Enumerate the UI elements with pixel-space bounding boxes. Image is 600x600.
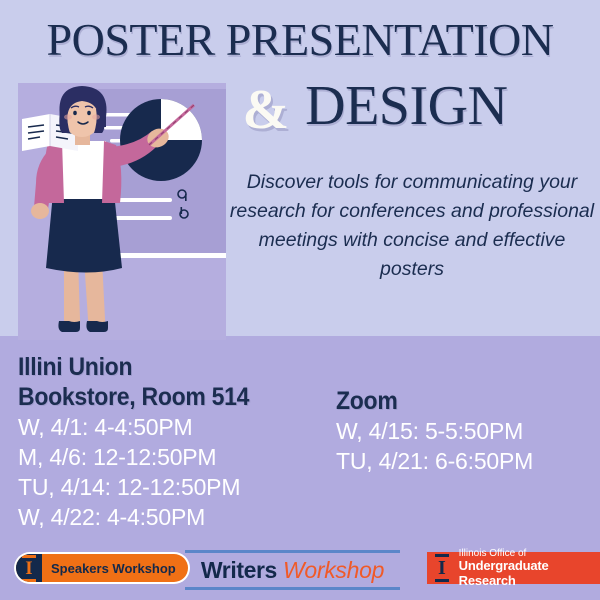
undergraduate-research-logo[interactable]: I Illinois Office of Undergraduate Resea… bbox=[427, 552, 600, 584]
illinois-i-glyph: I bbox=[22, 555, 35, 582]
design-word: DESIGN bbox=[305, 75, 507, 137]
title-line-1: POSTER PRESENTATION bbox=[0, 14, 600, 66]
venue-heading-line-2: Bookstore, Room 514 bbox=[18, 382, 312, 412]
illinois-block-i-icon: I bbox=[16, 554, 42, 582]
ampersand-glyph: & bbox=[243, 79, 290, 141]
venue-session-1: W, 4/1: 4-4:50PM bbox=[18, 412, 338, 442]
footer-logo-bar: I Speakers Workshop WritersWorkshop I Il… bbox=[0, 548, 600, 592]
speakers-workshop-logo[interactable]: I Speakers Workshop bbox=[14, 552, 190, 584]
writers-workshop-logo[interactable]: WritersWorkshop bbox=[185, 550, 400, 590]
workshop-word: Workshop bbox=[283, 557, 384, 583]
speakers-workshop-label: Speakers Workshop bbox=[42, 554, 188, 582]
schedule-column-zoom: Zoom W, 4/15: 5-5:50PM TU, 4/21: 6-6:50P… bbox=[336, 386, 596, 476]
zoom-session-2: TU, 4/21: 6-6:50PM bbox=[336, 446, 596, 476]
illinois-block-i-icon-our: I bbox=[432, 552, 452, 584]
venue-session-4: W, 4/22: 4-4:50PM bbox=[18, 502, 338, 532]
schedule-column-venue: Illini Union Bookstore, Room 514 W, 4/1:… bbox=[18, 352, 338, 532]
venue-session-3: TU, 4/14: 12-12:50PM bbox=[18, 472, 338, 502]
venue-heading-line-1: Illini Union bbox=[18, 352, 312, 382]
presenter-illustration bbox=[18, 83, 226, 340]
zoom-session-1: W, 4/15: 5-5:50PM bbox=[336, 416, 596, 446]
zoom-heading: Zoom bbox=[336, 386, 575, 416]
writers-word: Writers bbox=[201, 557, 277, 583]
illinois-i-glyph-our: I bbox=[435, 554, 449, 582]
undergraduate-research-text: Illinois Office of Undergraduate Researc… bbox=[459, 548, 593, 588]
poster-description: Discover tools for communicating your re… bbox=[228, 168, 596, 284]
our-line-2: Undergraduate Research bbox=[459, 559, 593, 588]
venue-session-2: M, 4/6: 12-12:50PM bbox=[18, 442, 338, 472]
